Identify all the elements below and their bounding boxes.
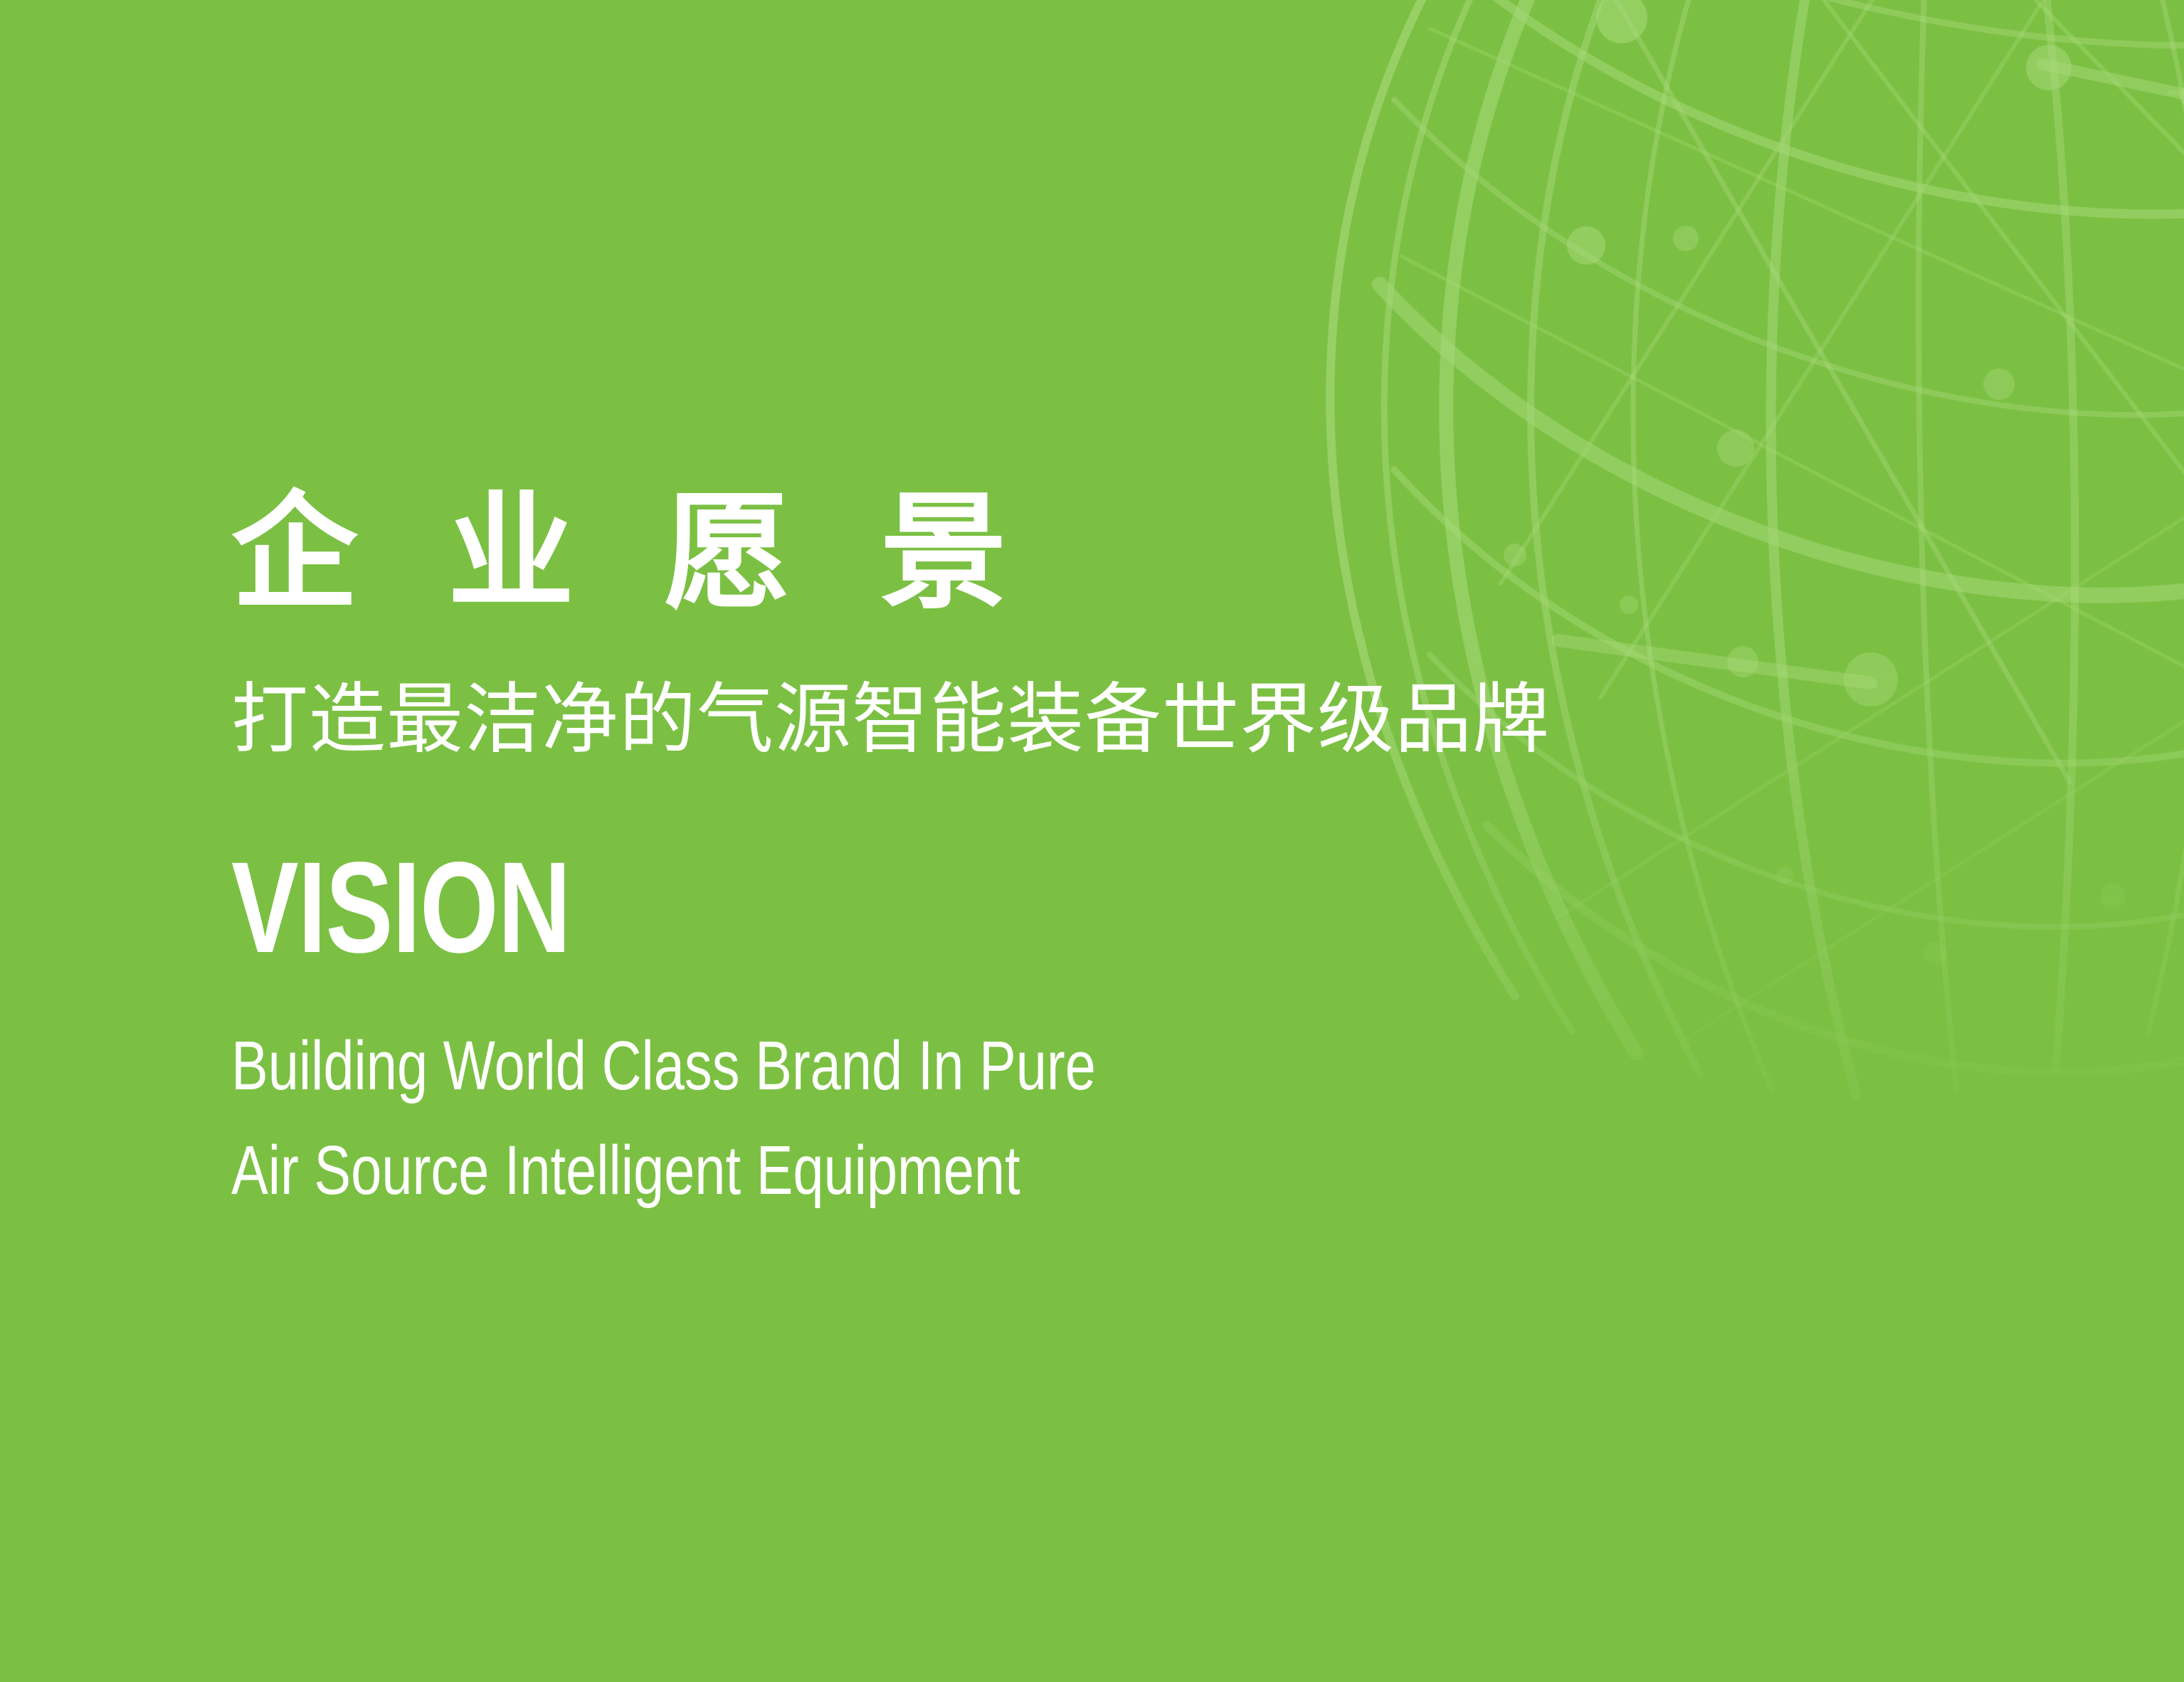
page-title: 企 业 愿 景 [231, 490, 1868, 616]
vision-slide: 企 业 愿 景 打造最洁净的气源智能装备世界级品牌 VISION Buildin… [0, 0, 2184, 1682]
vision-tagline: Building World Class Brand In Pure Air S… [231, 1013, 1541, 1223]
vision-tagline-line-1: Building World Class Brand In Pure [231, 1013, 1541, 1118]
vision-tagline-line-2: Air Source Intelligent Equipment [231, 1118, 1541, 1222]
page-subtitle: 打造最洁净的气源智能装备世界级品牌 [231, 682, 1868, 758]
slide-text-content: 企 业 愿 景 打造最洁净的气源智能装备世界级品牌 VISION Buildin… [231, 490, 1868, 1223]
vision-wordmark: VISION [231, 842, 1508, 972]
